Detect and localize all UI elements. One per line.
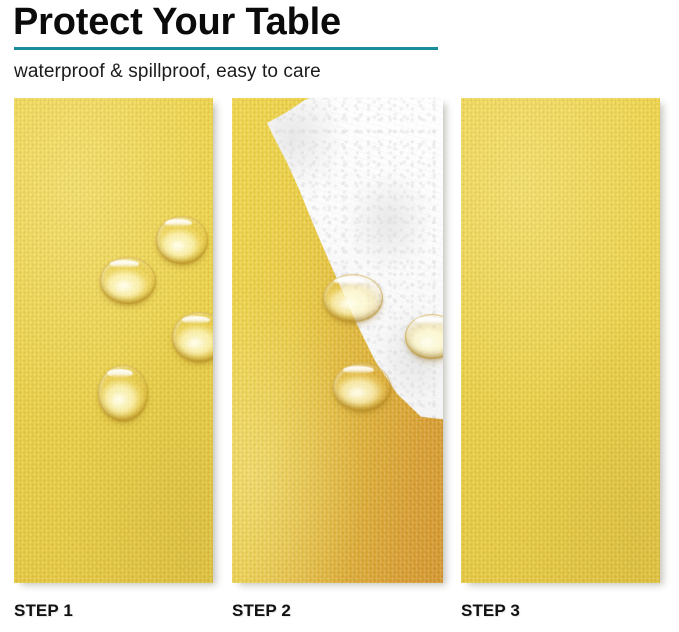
- page-title: Protect Your Table: [13, 0, 341, 45]
- step-3-image-panel: [461, 98, 660, 583]
- step-2-image-panel: [232, 98, 443, 583]
- droplet-highlight-icon: [182, 316, 211, 324]
- water-droplet: [100, 257, 156, 304]
- step-1-label: STEP 1: [14, 601, 73, 621]
- droplet-highlight-icon: [343, 366, 373, 374]
- page-subtitle: waterproof & spillproof, easy to care: [14, 59, 321, 85]
- droplet-highlight-icon: [334, 277, 365, 285]
- water-droplet: [323, 274, 383, 322]
- water-droplet: [333, 363, 391, 411]
- step-2-label: STEP 2: [232, 601, 291, 621]
- droplet-highlight-icon: [110, 260, 139, 268]
- step-3-label: STEP 3: [461, 601, 520, 621]
- step-panel-strip: [0, 98, 679, 584]
- droplet-inner-glow: [115, 281, 134, 293]
- water-droplet: [98, 365, 148, 421]
- title-divider-rule: [14, 47, 438, 50]
- water-droplet: [156, 216, 208, 264]
- droplet-highlight-icon: [107, 369, 133, 378]
- step-1-image-panel: [14, 98, 213, 583]
- droplet-inner-glow: [186, 338, 205, 351]
- droplet-inner-glow: [111, 394, 128, 409]
- yellow-fabric-surface: [461, 98, 660, 583]
